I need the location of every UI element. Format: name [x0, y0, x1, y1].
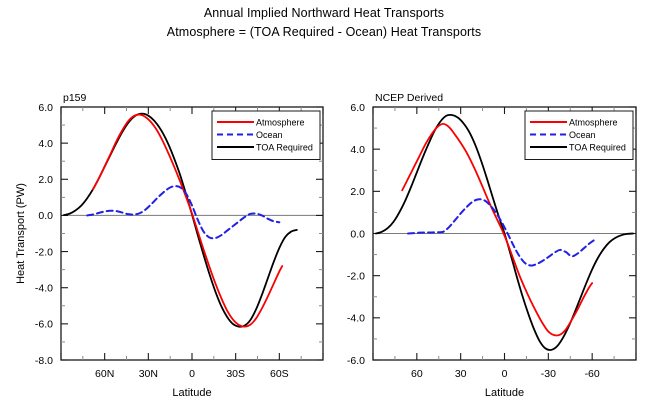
figure-title: Annual Implied Northward Heat Transports…	[0, 4, 648, 42]
y-axis-title: Heat Transport (PW)	[15, 183, 27, 284]
title-line-2: Atmosphere = (TOA Required - Ocean) Heat…	[0, 23, 648, 42]
y-tick-label: -6.0	[347, 355, 365, 367]
y-tick-label: -6.0	[35, 319, 53, 331]
plot-area-left: p1596.04.02.00.0-2.0-4.0-6.0-8.060N30N03…	[0, 60, 330, 408]
y-tick-label: 2.0	[38, 174, 53, 186]
x-tick-label: 30S	[226, 368, 245, 380]
x-tick-label: -60	[585, 368, 600, 380]
legend-label-atmosphere: Atmosphere	[256, 117, 305, 127]
legend-label-toa-required: TOA Required	[569, 142, 626, 152]
y-tick-label: 0.0	[38, 210, 53, 222]
y-tick-label: 6.0	[350, 102, 365, 114]
y-tick-label: 6.0	[38, 102, 53, 114]
chart-page: Annual Implied Northward Heat Transports…	[0, 0, 648, 408]
y-tick-label: -2.0	[347, 270, 365, 282]
x-tick-label: 0	[502, 368, 508, 380]
x-tick-label: 0	[189, 368, 195, 380]
x-axis-title: Latitude	[172, 387, 211, 399]
y-tick-label: 0.0	[350, 228, 365, 240]
panel-label: NCEP Derived	[375, 92, 443, 104]
x-axis-title: Latitude	[485, 387, 524, 399]
x-tick-label: -30	[541, 368, 556, 380]
y-tick-label: 2.0	[350, 186, 365, 198]
y-tick-label: 4.0	[350, 144, 365, 156]
y-tick-label: -4.0	[35, 283, 53, 295]
y-tick-label: 4.0	[38, 138, 53, 150]
plot-area-right: NCEP Derived6.04.02.00.0-2.0-4.0-6.06030…	[318, 60, 648, 408]
x-tick-label: 60S	[270, 368, 289, 380]
y-tick-label: -8.0	[35, 355, 53, 367]
x-tick-label: 60	[411, 368, 423, 380]
panel-label: p159	[63, 92, 87, 104]
legend-label-atmosphere: Atmosphere	[569, 117, 618, 127]
y-tick-label: -2.0	[35, 246, 53, 258]
x-tick-label: 60N	[95, 368, 114, 380]
y-tick-label: -4.0	[347, 313, 365, 325]
title-line-1: Annual Implied Northward Heat Transports	[0, 4, 648, 23]
legend-label-ocean: Ocean	[569, 130, 596, 140]
panel-left: p1596.04.02.00.0-2.0-4.0-6.0-8.060N30N03…	[0, 60, 330, 408]
legend-label-ocean: Ocean	[256, 130, 283, 140]
x-tick-label: 30N	[139, 368, 158, 380]
legend-label-toa-required: TOA Required	[256, 142, 313, 152]
panel-right: NCEP Derived6.04.02.00.0-2.0-4.0-6.06030…	[318, 60, 648, 408]
series-line-ocean	[408, 199, 595, 265]
series-line-ocean	[87, 186, 279, 238]
x-tick-label: 30	[455, 368, 467, 380]
